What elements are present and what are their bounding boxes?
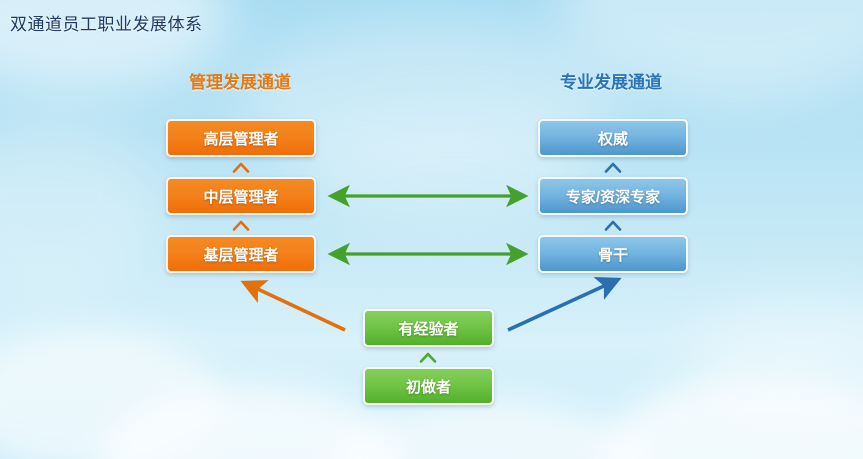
level-box-professional-authority[interactable]: 权威 bbox=[538, 119, 688, 157]
level-box-management-senior[interactable]: 高层管理者 bbox=[166, 119, 316, 157]
chevron-up-icon bbox=[232, 220, 250, 231]
level-box-professional-expert[interactable]: 专家/资深专家 bbox=[538, 177, 688, 215]
level-box-management-junior[interactable]: 基层管理者 bbox=[166, 235, 316, 273]
chevron-up-icon bbox=[604, 220, 622, 231]
level-box-management-middle[interactable]: 中层管理者 bbox=[166, 177, 316, 215]
level-box-professional-backbone[interactable]: 骨干 bbox=[538, 235, 688, 273]
branch-arrow-to-professional bbox=[508, 280, 617, 330]
chevron-up-icon bbox=[419, 352, 437, 363]
chevron-up-icon bbox=[232, 162, 250, 173]
level-box-experienced[interactable]: 有经验者 bbox=[363, 309, 494, 347]
branch-arrow-to-management bbox=[245, 283, 345, 330]
chevron-up-icon bbox=[604, 162, 622, 173]
level-box-beginner[interactable]: 初做者 bbox=[363, 367, 494, 405]
